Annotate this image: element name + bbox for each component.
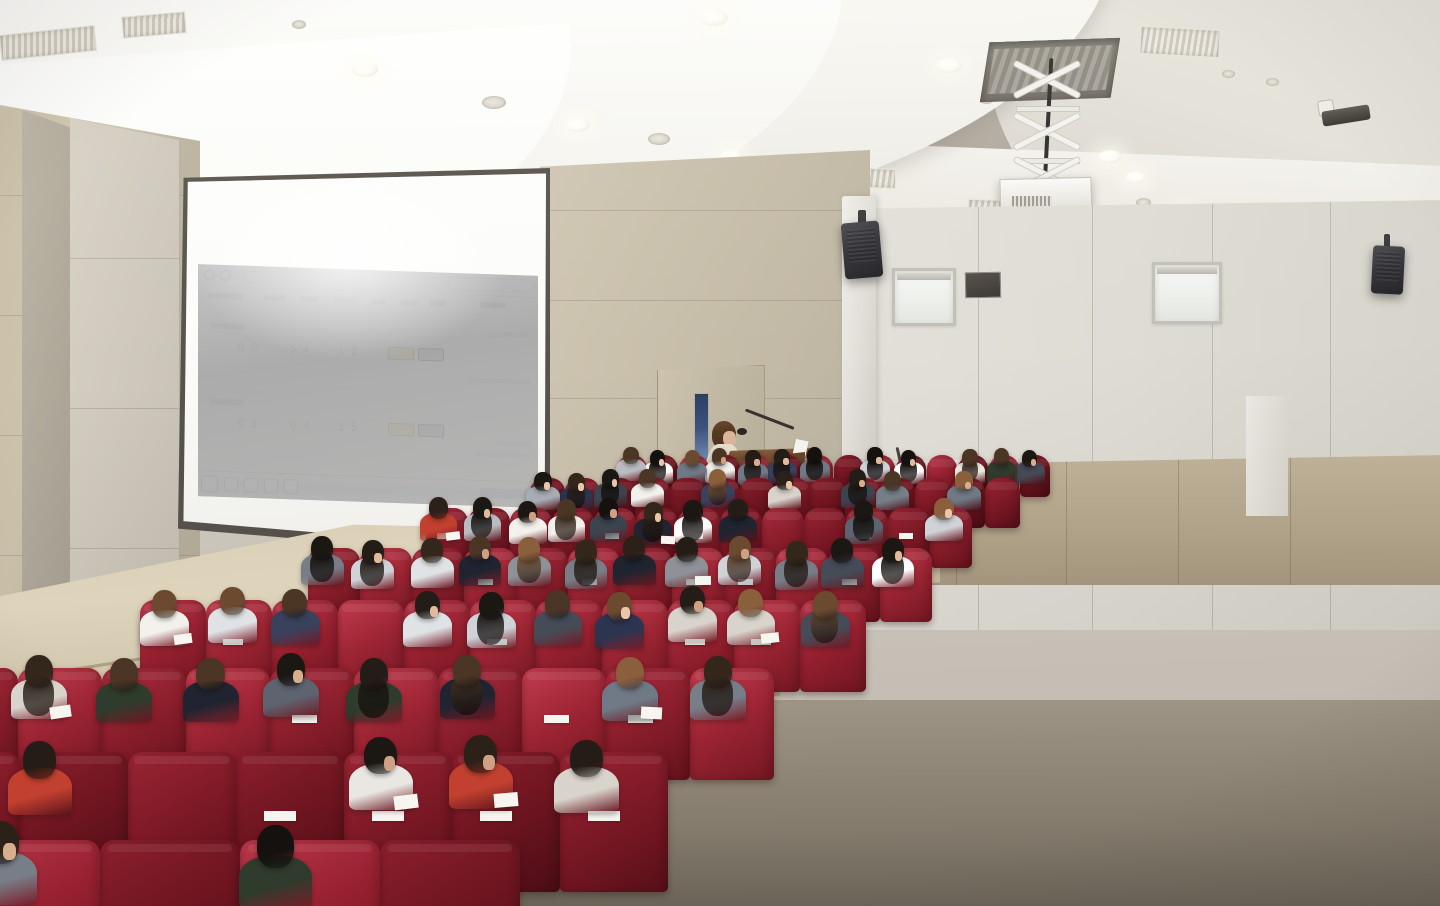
auditorium-scene: 0 0 5 4 1 2 0 1 0 4 1 5 — [0, 0, 1440, 906]
audience-member — [0, 0, 1440, 906]
